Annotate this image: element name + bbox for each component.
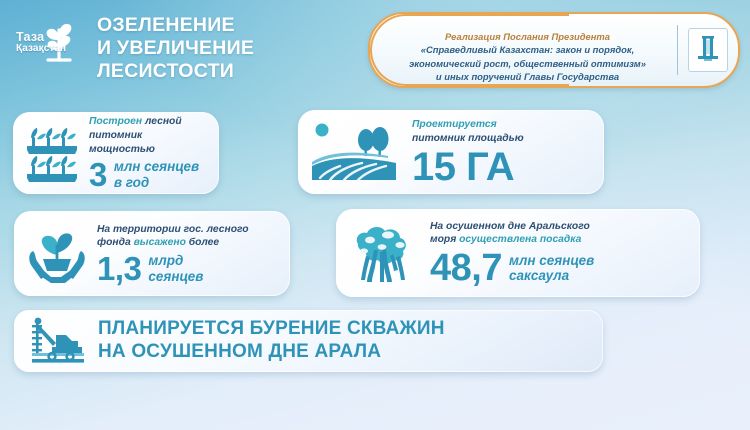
stat-value: 1,3 (97, 253, 141, 284)
logo-line-2: Қазақстан (16, 44, 66, 54)
hands-holding-plant-icon (25, 221, 89, 287)
stat-card-nursery-planned-area[interactable]: Проектируется питомник площадью 15 ГА (298, 110, 604, 194)
banner-line-rest: «Справедливый Казахстан: закон и порядок… (409, 44, 646, 82)
bottom-banner-text: ПЛАНИРУЕТСЯ БУРЕНИЕ СКВАЖИН НА ОСУШЕННОМ… (98, 318, 445, 364)
stat-card-state-forest-fund-planting[interactable]: На территории гос. лесного фонда высажен… (14, 211, 290, 296)
stat-value: 48,7 (430, 250, 502, 286)
card-lead-highlight: высажено (134, 237, 186, 248)
stat-unit: млн сеянцев в год (114, 159, 199, 190)
card-body: На осушенном дне Аральского моря осущест… (430, 220, 688, 286)
card-stat: 48,7 млн сеянцев саксаула (430, 250, 688, 286)
stat-unit: млн сеянцев саксаула (509, 253, 594, 284)
card-body: Построен лесной питомник мощностью 3 млн… (89, 115, 209, 190)
stat-unit: млрд сеянцев (148, 253, 203, 284)
logo-line-1: Таза (16, 31, 66, 44)
card-lead-rest: более (186, 237, 219, 248)
drilling-rig-icon (30, 317, 86, 365)
logo-wordmark: Таза Қазақстан (16, 31, 66, 54)
stat-card-aral-seabed-saxaul-planting[interactable]: На осушенном дне Аральского моря осущест… (336, 209, 700, 297)
card-lead-rest: питомник площадью (412, 133, 524, 144)
saxaul-tree-icon (348, 218, 420, 288)
card-lead-text: На осушенном дне Аральского моря осущест… (430, 220, 688, 247)
card-lead-text: Построен лесной питомник мощностью (89, 115, 209, 156)
card-lead-text: На территории гос. лесного фонда высажен… (97, 223, 279, 250)
banner-text: Реализация Послания Президента«Справедли… (370, 17, 677, 84)
stat-value: 15 ГА (412, 148, 514, 186)
card-lead-text: Проектируется питомник площадью (412, 118, 592, 145)
card-lead-highlight: Построен (89, 116, 142, 127)
card-lead-highlight: осуществлена посадка (459, 234, 581, 245)
card-body: Проектируется питомник площадью 15 ГА (412, 118, 592, 186)
seedling-tray-icon (23, 122, 81, 184)
stat-value: 3 (89, 159, 107, 190)
card-lead-highlight: Проектируется (412, 119, 497, 130)
government-building-icon (695, 33, 721, 68)
taza-qazaqstan-logo: Таза Қазақстан (14, 12, 88, 70)
card-stat: 3 млн сеянцев в год (89, 159, 209, 190)
page-title: ОЗЕЛЕНЕНИЕ И УВЕЛИЧЕНИЕ ЛЕСИСТОСТИ (97, 12, 254, 83)
card-stat: 15 ГА (412, 148, 592, 186)
field-landscape-icon (310, 118, 406, 186)
header: Таза Қазақстан ОЗЕЛЕНЕНИЕ И УВЕЛИЧЕНИЕ Л… (14, 12, 254, 83)
infographic-canvas: Таза Қазақстан ОЗЕЛЕНЕНИЕ И УВЕЛИЧЕНИЕ Л… (0, 0, 750, 430)
banner-line-1: Реализация Послания Президента (386, 30, 669, 43)
stat-card-forest-nursery-built[interactable]: Построен лесной питомник мощностью 3 млн… (13, 112, 219, 194)
bottom-banner-drilling[interactable]: ПЛАНИРУЕТСЯ БУРЕНИЕ СКВАЖИН НА ОСУШЕННОМ… (14, 310, 603, 372)
banner-icon-wrap (678, 28, 738, 72)
card-stat: 1,3 млрд сеянцев (97, 253, 279, 284)
presidential-address-banner: Реализация Послания Президента«Справедли… (368, 12, 740, 88)
card-body: На территории гос. лесного фонда высажен… (97, 223, 279, 285)
